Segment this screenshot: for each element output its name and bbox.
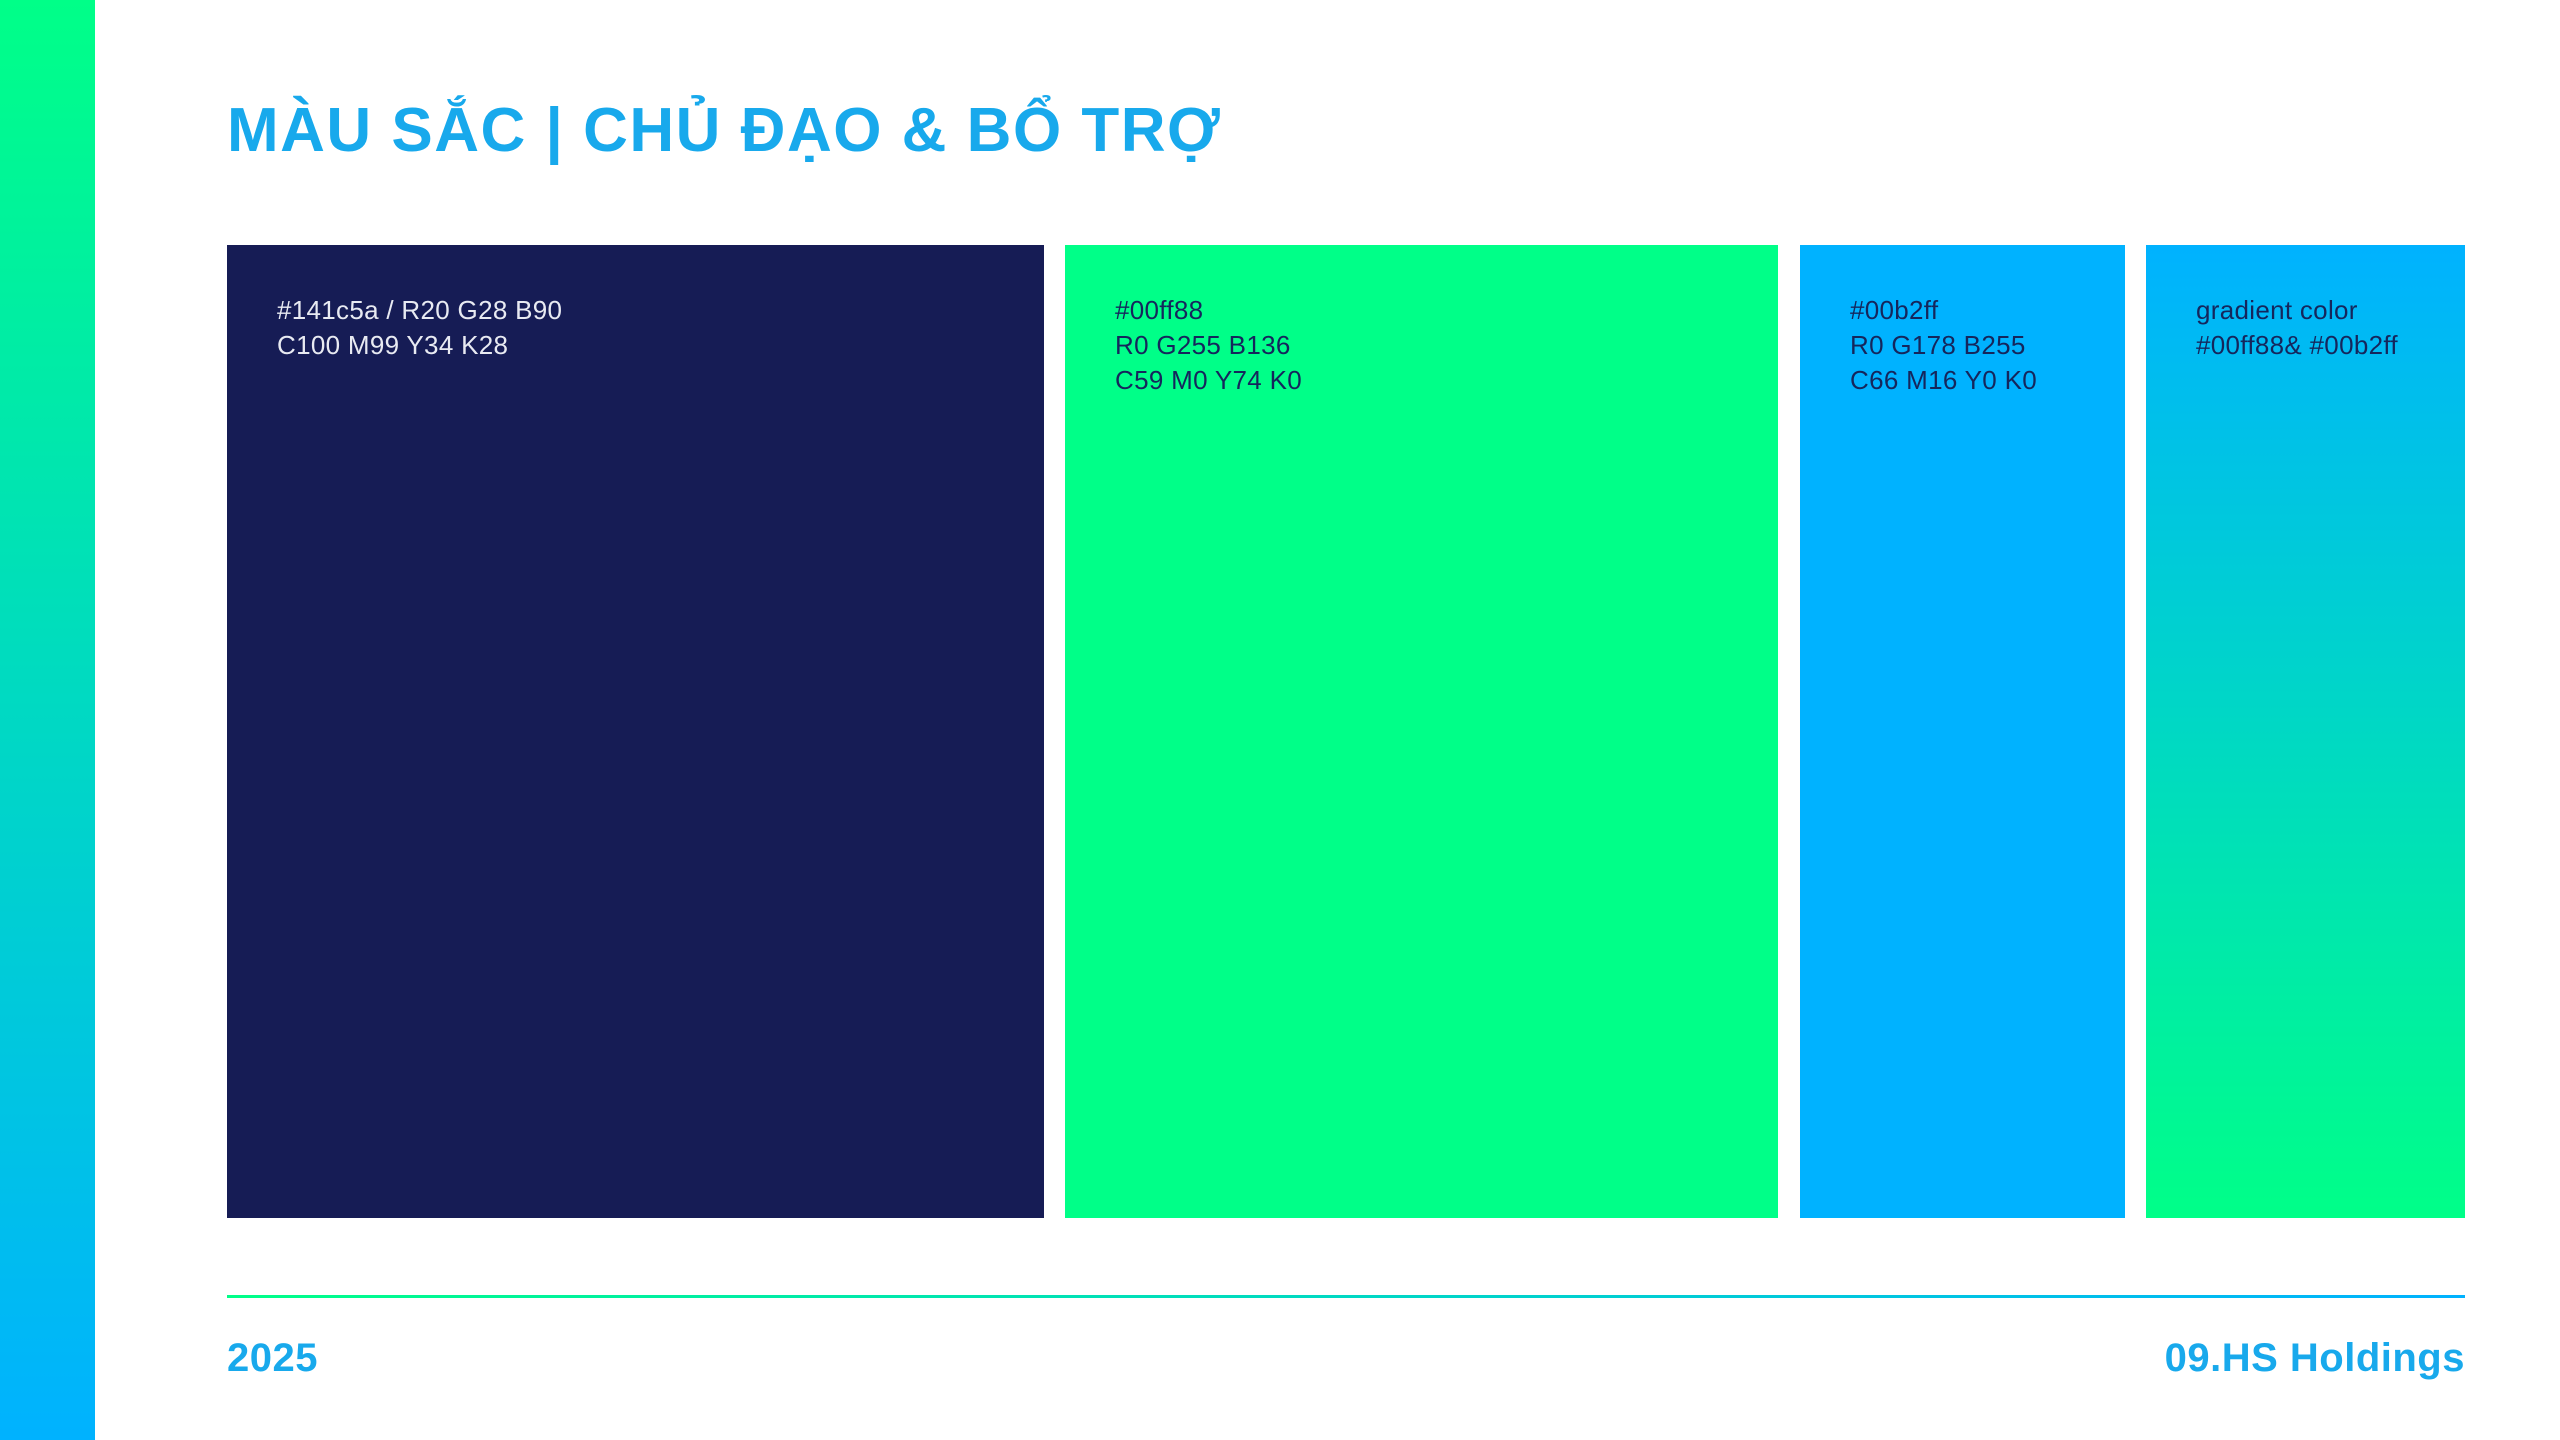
swatch-line: gradient color (2196, 293, 2465, 328)
swatch-line: #141c5a / R20 G28 B90 (277, 293, 1044, 328)
slide-footer: 2025 09.HS Holdings (227, 1336, 2465, 1381)
swatch-line: #00ff88 (1115, 293, 1778, 328)
footer-divider (227, 1295, 2465, 1298)
page-title: MÀU SẮC | CHỦ ĐẠO & BỔ TRỢ (227, 95, 1221, 166)
swatch-line: R0 G178 B255 (1850, 328, 2125, 363)
swatch-gradient[interactable]: gradient color #00ff88& #00b2ff (2146, 245, 2465, 1218)
left-gradient-bar (0, 0, 95, 1440)
swatch-line: #00b2ff (1850, 293, 2125, 328)
swatch-line: C59 M0 Y74 K0 (1115, 363, 1778, 398)
swatch-line: R0 G255 B136 (1115, 328, 1778, 363)
swatch-line: #00ff88& #00b2ff (2196, 328, 2465, 363)
footer-year: 2025 (227, 1336, 318, 1381)
swatch-line: C100 M99 Y34 K28 (277, 328, 1044, 363)
footer-brand: 09.HS Holdings (2165, 1336, 2465, 1381)
swatch-primary-blue[interactable]: #00b2ff R0 G178 B255 C66 M16 Y0 K0 (1800, 245, 2125, 1218)
color-swatch-row: #141c5a / R20 G28 B90 C100 M99 Y34 K28 #… (227, 245, 2465, 1218)
swatch-primary-navy[interactable]: #141c5a / R20 G28 B90 C100 M99 Y34 K28 (227, 245, 1044, 1218)
swatch-line: C66 M16 Y0 K0 (1850, 363, 2125, 398)
swatch-primary-green[interactable]: #00ff88 R0 G255 B136 C59 M0 Y74 K0 (1065, 245, 1778, 1218)
slide-canvas: MÀU SẮC | CHỦ ĐẠO & BỔ TRỢ #141c5a / R20… (0, 0, 2560, 1440)
